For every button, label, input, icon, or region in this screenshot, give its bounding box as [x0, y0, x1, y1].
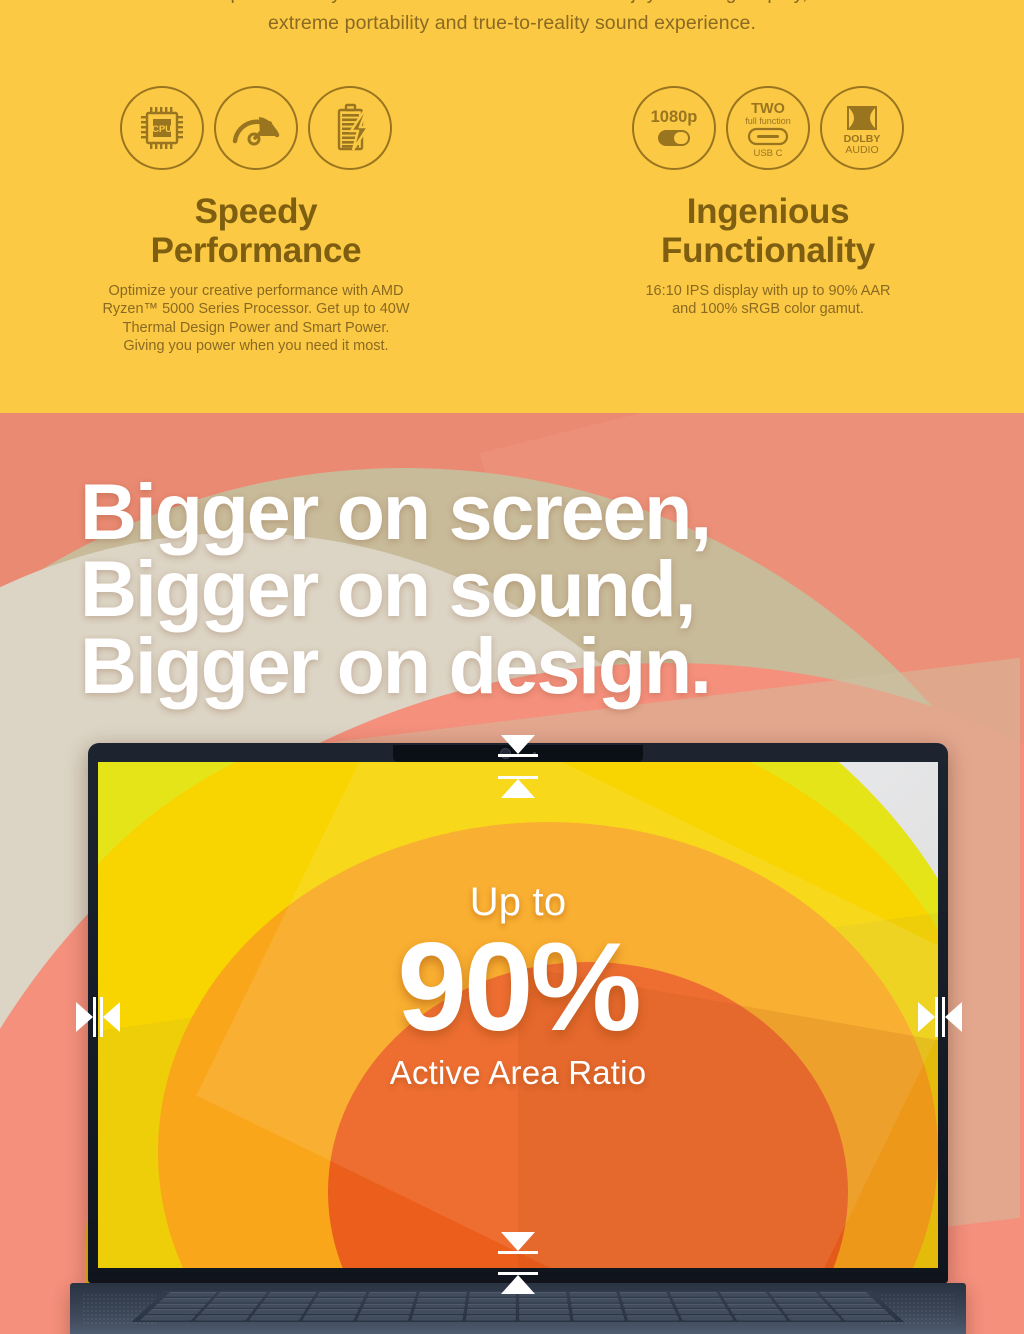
usb-type-label: USB C: [753, 148, 782, 159]
bezel-marker-right: [918, 997, 938, 1037]
feature-title-line-2: Functionality: [661, 231, 875, 270]
functionality-icon-row: 1080p TWO full function USB C: [632, 86, 904, 170]
intro-paragraph: Up to AMD Ryzen™ 5000 Series Processor. …: [0, 0, 1024, 38]
keyboard-row: [159, 1298, 877, 1302]
audio-label: AUDIO: [845, 144, 878, 156]
bezel-marker-bottom: [498, 1232, 538, 1254]
features-panel: Up to AMD Ryzen™ 5000 Series Processor. …: [0, 0, 1024, 413]
feature-column-functionality: 1080p TWO full function USB C: [512, 86, 1024, 355]
arrow-up-icon: [501, 779, 535, 798]
cpu-chip-icon: CPU: [120, 86, 204, 170]
measure-bar-icon: [498, 754, 538, 757]
feature-title-line-1: Speedy: [151, 192, 362, 231]
feature-body-functionality: 16:10 IPS display with up to 90% AAR and…: [638, 282, 898, 319]
feature-title-line-1: Ingenious: [661, 192, 875, 231]
webcam-1080p-icon: 1080p: [632, 86, 716, 170]
laptop-screen: Up to 90% Active Area Ratio: [98, 762, 938, 1268]
usb-c-icon: TWO full function USB C: [726, 86, 810, 170]
cpu-icon-label: CPU: [152, 124, 172, 135]
product-page: Up to AMD Ryzen™ 5000 Series Processor. …: [0, 0, 1024, 1334]
laptop-keyboard: [132, 1291, 905, 1322]
intro-line-2: extreme portability and true-to-reality …: [0, 8, 1024, 38]
arrow-left-icon: [103, 1002, 120, 1032]
bezel-marker-left: [76, 997, 96, 1037]
screen-callout: Up to 90% Active Area Ratio: [98, 880, 938, 1092]
callout-caption: Active Area Ratio: [98, 1054, 938, 1092]
keyboard-row: [153, 1304, 883, 1309]
hero-headline: Bigger on screen, Bigger on sound, Bigge…: [80, 473, 710, 704]
headline-line-2: Bigger on sound,: [80, 550, 710, 627]
dolby-audio-icon: DOLBY AUDIO: [820, 86, 904, 170]
feature-title-line-2: Performance: [151, 231, 362, 270]
webcam-resolution-label: 1080p: [651, 108, 698, 126]
bezel-marker-left-inner: [100, 997, 120, 1037]
bezel-marker-top: [498, 735, 538, 757]
bezel-marker-right-inner: [942, 997, 962, 1037]
usb-function-label: full function: [745, 116, 791, 126]
callout-value: 90%: [98, 924, 938, 1052]
arrow-up-icon: [501, 1275, 535, 1294]
measure-bar-icon: [498, 1251, 538, 1254]
arrow-right-icon: [918, 1002, 935, 1032]
arrow-down-icon: [501, 1232, 535, 1251]
speed-gauge-icon: [214, 86, 298, 170]
measure-bar-icon: [93, 997, 96, 1037]
measure-bar-icon: [935, 997, 938, 1037]
bezel-marker-bottom-inner: [498, 1272, 538, 1294]
performance-icon-row: CPU: [120, 86, 392, 170]
bezel-marker-top-inner: [498, 776, 538, 798]
keyboard-row: [146, 1309, 889, 1314]
battery-bolt-icon: [308, 86, 392, 170]
headline-line-3: Bigger on design.: [80, 627, 710, 704]
feature-column-performance: CPU: [0, 86, 512, 355]
feature-title-functionality: Ingenious Functionality: [661, 192, 875, 270]
laptop-lid: Up to 90% Active Area Ratio: [88, 743, 948, 1283]
arrow-down-icon: [501, 735, 535, 754]
feature-columns: CPU: [0, 86, 1024, 355]
headline-line-1: Bigger on screen,: [80, 473, 710, 550]
intro-line-1: Up to AMD Ryzen™ 5000 Series Processor. …: [0, 0, 1024, 8]
feature-title-performance: Speedy Performance: [151, 192, 362, 270]
usb-count-label: TWO: [751, 101, 785, 117]
hero-section: Bigger on screen, Bigger on sound, Bigge…: [0, 413, 1024, 1334]
arrow-left-icon: [945, 1002, 962, 1032]
arrow-right-icon: [76, 1002, 93, 1032]
feature-body-performance: Optimize your creative performance with …: [101, 282, 411, 355]
keyboard-row: [140, 1316, 896, 1321]
